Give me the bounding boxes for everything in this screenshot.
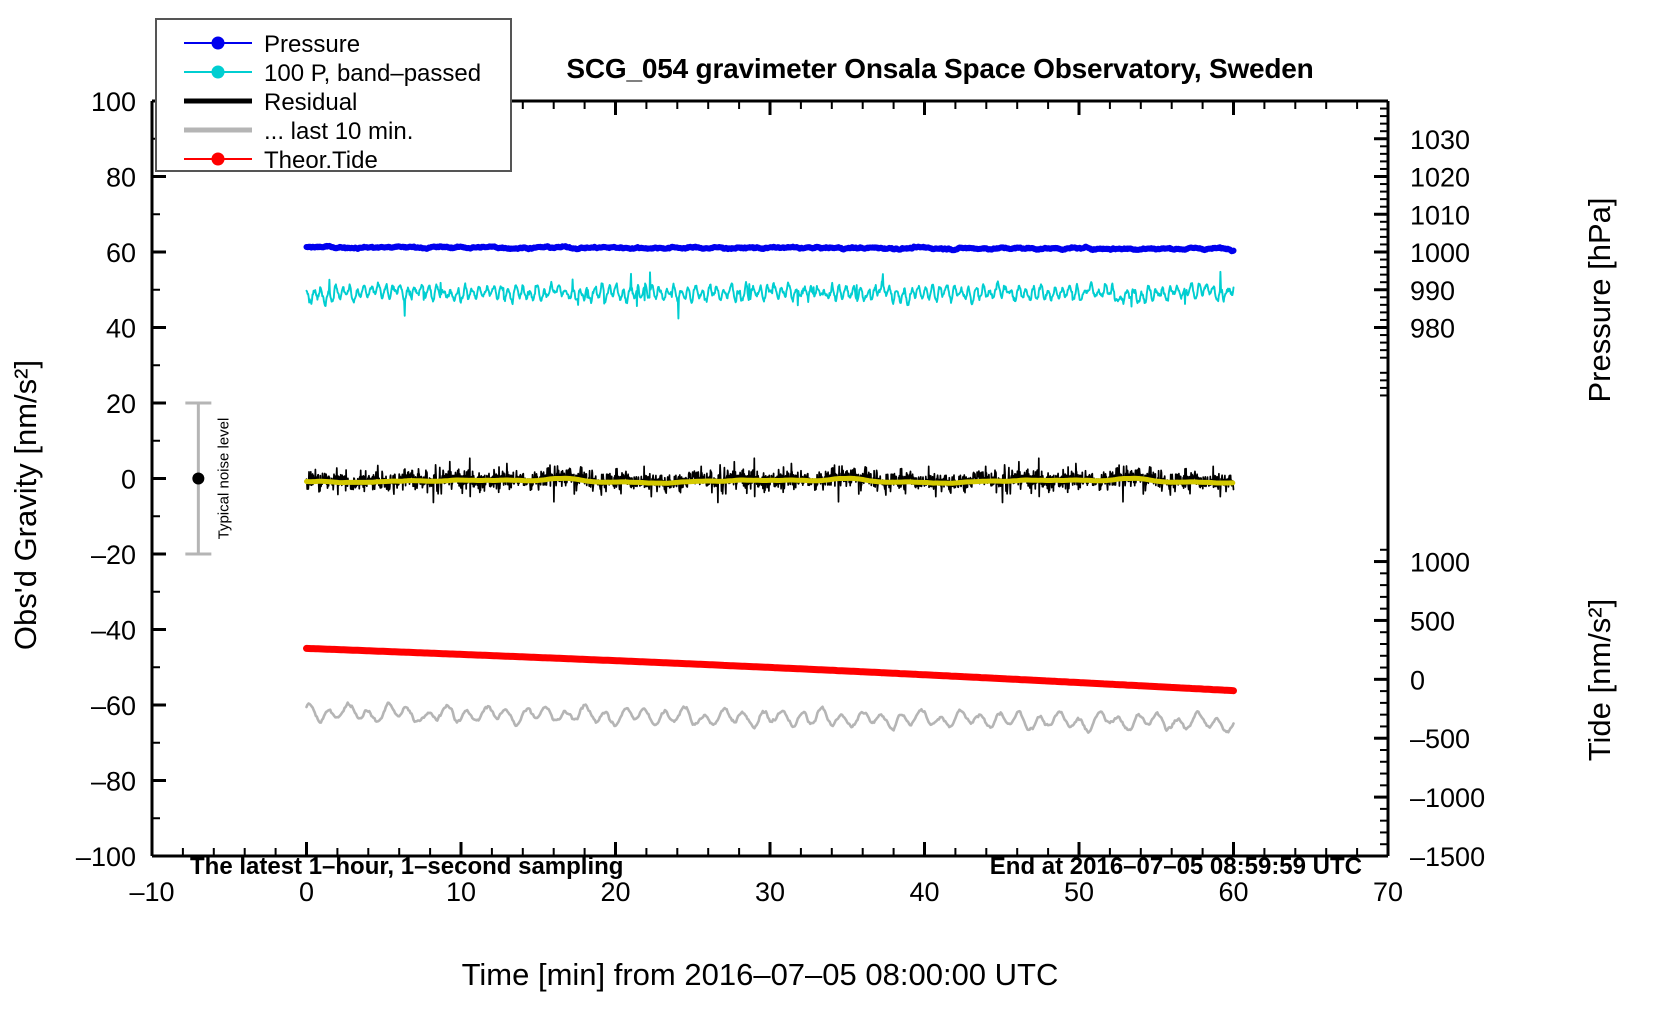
pressure-tick-label: 990 bbox=[1410, 276, 1455, 306]
axis-tick-labels: –10010203040506070–100–80–60–40–20020406… bbox=[76, 87, 1485, 907]
x-tick-label: 10 bbox=[446, 877, 476, 907]
y-tick-label: 0 bbox=[121, 465, 136, 495]
noise-level-indicator: Typical noise level bbox=[185, 403, 232, 554]
tide-axis-label: Tide [nm/s²] bbox=[1582, 599, 1617, 762]
pressure-tick-label: 1020 bbox=[1410, 163, 1470, 193]
y-tick-label: 60 bbox=[106, 238, 136, 268]
pressure-tick-label: 1030 bbox=[1410, 125, 1470, 155]
tide-tick-label: –1000 bbox=[1410, 783, 1485, 813]
x-tick-label: 50 bbox=[1064, 877, 1094, 907]
y-tick-label: –20 bbox=[91, 540, 136, 570]
x-tick-label: 20 bbox=[600, 877, 630, 907]
legend-label: ... last 10 min. bbox=[264, 118, 413, 145]
series-line bbox=[307, 272, 1234, 319]
x-tick-label: –10 bbox=[129, 877, 174, 907]
y-tick-label: 20 bbox=[106, 389, 136, 419]
bottom-right-note: End at 2016–07–05 08:59:59 UTC bbox=[990, 853, 1362, 880]
series-line bbox=[307, 648, 1234, 690]
chart-page: SCG_054 gravimeter Onsala Space Observat… bbox=[0, 0, 1660, 1020]
y-tick-label: 80 bbox=[106, 163, 136, 193]
y-tick-label: –80 bbox=[91, 767, 136, 797]
legend: Pressure100 P, band–passedResidual... la… bbox=[156, 19, 511, 174]
tide-tick-label: –500 bbox=[1410, 724, 1470, 754]
series-line bbox=[307, 703, 1234, 733]
data-series bbox=[307, 246, 1234, 733]
y-tick-label: –60 bbox=[91, 691, 136, 721]
tide-tick-label: 1000 bbox=[1410, 548, 1470, 578]
y-tick-label: 100 bbox=[91, 87, 136, 117]
legend-label: Residual bbox=[264, 89, 357, 116]
gravimeter-plot: SCG_054 gravimeter Onsala Space Observat… bbox=[0, 0, 1660, 1020]
chart-title: SCG_054 gravimeter Onsala Space Observat… bbox=[566, 53, 1313, 84]
legend-label: 100 P, band–passed bbox=[264, 60, 481, 87]
legend-marker-icon bbox=[212, 66, 225, 79]
bottom-left-note: The latest 1–hour, 1–second sampling bbox=[190, 853, 623, 880]
pressure-tick-label: 980 bbox=[1410, 314, 1455, 344]
x-tick-label: 0 bbox=[299, 877, 314, 907]
y-tick-label: –40 bbox=[91, 616, 136, 646]
pressure-axis-label: Pressure [hPa] bbox=[1582, 197, 1617, 402]
legend-marker-icon bbox=[212, 153, 225, 166]
x-tick-label: 40 bbox=[909, 877, 939, 907]
x-tick-label: 60 bbox=[1218, 877, 1248, 907]
tide-tick-label: 0 bbox=[1410, 665, 1425, 695]
legend-label: Theor.Tide bbox=[264, 147, 378, 174]
series-line bbox=[307, 246, 1234, 251]
x-tick-label: 30 bbox=[755, 877, 785, 907]
noise-level-label: Typical noise level bbox=[215, 418, 232, 540]
x-axis-label: Time [min] from 2016–07–05 08:00:00 UTC bbox=[462, 957, 1059, 992]
pressure-tick-label: 1010 bbox=[1410, 200, 1470, 230]
legend-label: Pressure bbox=[264, 31, 360, 58]
pressure-tick-label: 1000 bbox=[1410, 238, 1470, 268]
tide-tick-label: 500 bbox=[1410, 606, 1455, 636]
x-tick-label: 70 bbox=[1373, 877, 1403, 907]
tide-tick-label: –1500 bbox=[1410, 842, 1485, 872]
y-axis-label: Obs'd Gravity [nm/s²] bbox=[8, 360, 43, 650]
legend-marker-icon bbox=[212, 37, 225, 50]
y-tick-label: 40 bbox=[106, 314, 136, 344]
y-tick-label: –100 bbox=[76, 842, 136, 872]
series-line bbox=[307, 478, 1233, 483]
